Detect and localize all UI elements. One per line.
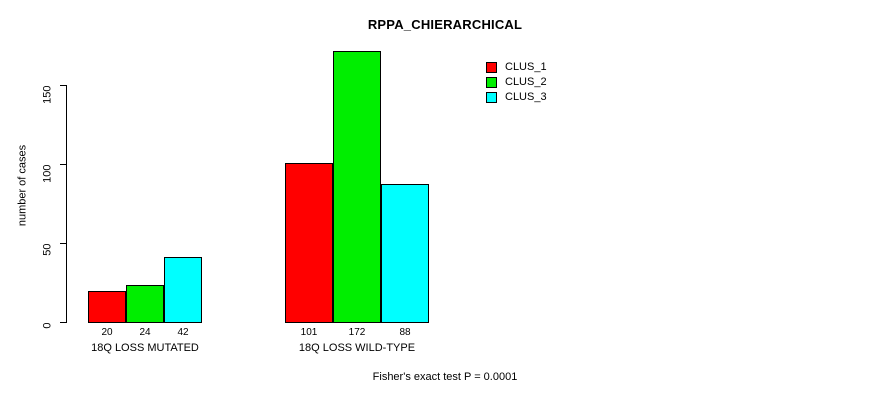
bar-mutated-clus1 <box>88 291 126 323</box>
bar-wildtype-clus1 <box>285 163 333 323</box>
bar-mutated-clus3-value-label: 42 <box>163 327 203 338</box>
bar-wildtype-clus3 <box>381 184 429 323</box>
y-axis-tick-label: 100 <box>43 165 54 205</box>
bar-wildtype-clus2-value-label: 172 <box>337 327 377 338</box>
legend-item-label: CLUS_3 <box>505 91 547 103</box>
bar-mutated-clus1-value-label: 20 <box>87 327 127 338</box>
bar-wildtype-clus3-value-label: 88 <box>385 327 425 338</box>
bar-mutated-clus3 <box>164 257 202 323</box>
y-axis-tick-label: 0 <box>43 323 54 363</box>
bar-wildtype-clus1-value-label: 101 <box>289 327 329 338</box>
y-axis-line <box>66 85 67 323</box>
bar-wildtype-clus2 <box>333 51 381 323</box>
group-label-mutated: 18Q LOSS MUTATED <box>55 342 235 354</box>
legend-swatch-icon <box>486 77 497 88</box>
y-axis-tick-label: 150 <box>43 86 54 126</box>
bar-mutated-clus2 <box>126 285 164 323</box>
legend-swatch-icon <box>486 92 497 103</box>
y-axis-tick <box>60 85 66 86</box>
legend-swatch-icon <box>486 62 497 73</box>
legend-item-label: CLUS_2 <box>505 76 547 88</box>
page-title: RPPA_CHIERARCHICAL <box>0 17 890 32</box>
y-axis-tick <box>60 322 66 323</box>
bar-mutated-clus2-value-label: 24 <box>125 327 165 338</box>
y-axis-title: number of cases <box>18 126 29 246</box>
y-axis-tick-label: 50 <box>43 244 54 284</box>
chart-canvas: RPPA_CHIERARCHICAL 050100150 number of c… <box>0 0 890 400</box>
group-label-wildtype: 18Q LOSS WILD-TYPE <box>267 342 447 354</box>
legend-item-label: CLUS_1 <box>505 61 547 73</box>
statistical-test-annotation: Fisher's exact test P = 0.0001 <box>0 371 890 383</box>
y-axis-tick <box>60 243 66 244</box>
y-axis-tick <box>60 164 66 165</box>
